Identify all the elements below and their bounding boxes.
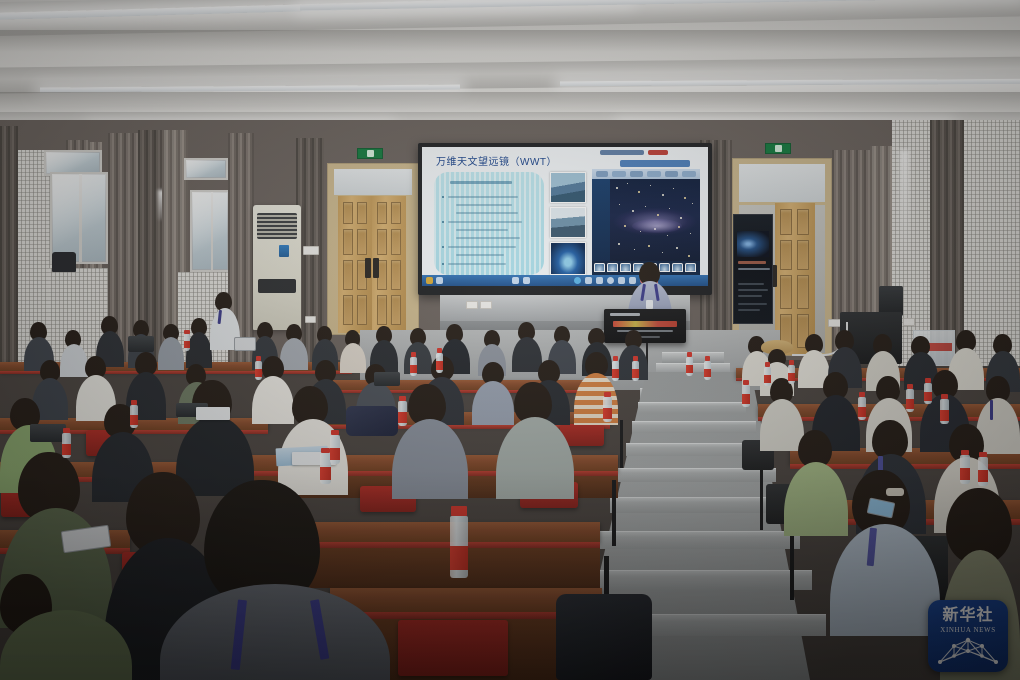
wall-outlet xyxy=(303,246,319,255)
water-bottle[interactable] xyxy=(742,380,750,407)
photo-canvas: 万维天文望远镜（WWT） xyxy=(0,0,1020,680)
water-bottle[interactable] xyxy=(924,378,932,404)
notebook xyxy=(196,407,230,420)
water-bottle[interactable] xyxy=(686,352,693,376)
water-bottle[interactable] xyxy=(858,392,866,420)
door-handle[interactable] xyxy=(373,258,379,278)
exit-sign-left xyxy=(357,148,383,159)
exit-sign-right xyxy=(765,143,791,154)
water-bottle[interactable] xyxy=(330,430,340,464)
water-bottle[interactable] xyxy=(960,450,970,484)
water-bottle[interactable] xyxy=(130,400,138,428)
water-bottle[interactable] xyxy=(704,356,711,380)
water-bottle[interactable] xyxy=(184,330,190,351)
chair-leg xyxy=(612,480,616,546)
network-graphic-icon xyxy=(936,636,1000,666)
water-bottle[interactable] xyxy=(603,392,612,422)
aisle-step xyxy=(600,531,800,549)
laptop[interactable] xyxy=(374,372,400,386)
windowsill-bag xyxy=(52,252,76,272)
water-bottle[interactable] xyxy=(978,452,988,486)
audience-member-foreground xyxy=(160,480,390,680)
aisle-step xyxy=(588,570,812,590)
slide-photo-classroom xyxy=(550,207,586,238)
aisle-step xyxy=(618,468,776,482)
chair-leg xyxy=(620,420,623,468)
podium-title-text xyxy=(613,321,677,327)
backpack xyxy=(346,406,398,436)
water-bottle[interactable] xyxy=(940,394,949,424)
door-transom xyxy=(739,164,825,202)
water-bottle[interactable] xyxy=(398,396,407,426)
aisle-step xyxy=(632,421,756,433)
aisle-step xyxy=(638,402,746,413)
wwt-left-pane xyxy=(592,179,610,261)
window-left xyxy=(50,172,108,264)
water-bottle[interactable] xyxy=(450,506,468,578)
water-bottle[interactable] xyxy=(436,348,443,373)
water-bottle[interactable] xyxy=(906,384,914,412)
slide-window-chip xyxy=(648,150,668,155)
roll-up-banner xyxy=(733,214,773,324)
ac-grille xyxy=(257,213,297,239)
water-bottle[interactable] xyxy=(410,352,417,376)
water-bottle[interactable] xyxy=(764,362,771,386)
slide-text-panel xyxy=(434,172,544,275)
laptop[interactable] xyxy=(30,424,66,442)
water-bottle[interactable] xyxy=(612,356,619,381)
slide-title: 万维天文望远镜（WWT） xyxy=(436,153,557,168)
slide-window-chip xyxy=(600,150,644,155)
hair-clip xyxy=(886,488,904,496)
audience-member-foreground xyxy=(0,560,132,680)
wall-outlet xyxy=(305,316,316,323)
audience-member xyxy=(496,382,574,494)
xinhua-news-watermark: 新华社 XINHUA NEWS xyxy=(928,600,1008,672)
presenter-badge xyxy=(646,300,653,309)
door-transom xyxy=(334,169,412,195)
slide-photo-planetarium xyxy=(550,242,586,275)
watermark-en-text: XINHUA NEWS xyxy=(928,626,1008,634)
podium-logo xyxy=(610,313,640,316)
water-bottle[interactable] xyxy=(255,356,262,380)
window-mid-upper xyxy=(184,158,228,180)
window-mid xyxy=(190,190,230,272)
ac-energy-label xyxy=(279,245,289,257)
wall-outlet xyxy=(903,318,915,326)
wall-sconce-light xyxy=(900,150,909,260)
smartphone[interactable] xyxy=(234,337,256,351)
water-bottle[interactable] xyxy=(62,428,71,458)
chair[interactable] xyxy=(398,620,508,676)
door-handle[interactable] xyxy=(365,258,371,278)
stage-step xyxy=(662,352,724,363)
slide-header-chip xyxy=(620,160,690,167)
backpack xyxy=(556,594,652,680)
slide-photo-outdoor xyxy=(550,172,586,203)
water-bottle[interactable] xyxy=(632,356,639,381)
wwt-sky-view xyxy=(610,179,700,261)
floor-air-conditioner xyxy=(253,205,301,330)
wwt-galaxy-disc xyxy=(632,219,682,233)
lanyard xyxy=(990,400,993,420)
slide-wwt-screenshot xyxy=(592,169,700,275)
ac-control-panel[interactable] xyxy=(258,279,296,293)
watermark-cn-text: 新华社 xyxy=(928,607,1008,623)
audience-member-foreground xyxy=(830,470,940,630)
chair-leg xyxy=(760,470,763,530)
laptop[interactable] xyxy=(128,336,154,352)
wall-slat-panel xyxy=(0,126,18,364)
banner-galaxy-image xyxy=(737,231,769,257)
water-bottle[interactable] xyxy=(788,360,795,384)
